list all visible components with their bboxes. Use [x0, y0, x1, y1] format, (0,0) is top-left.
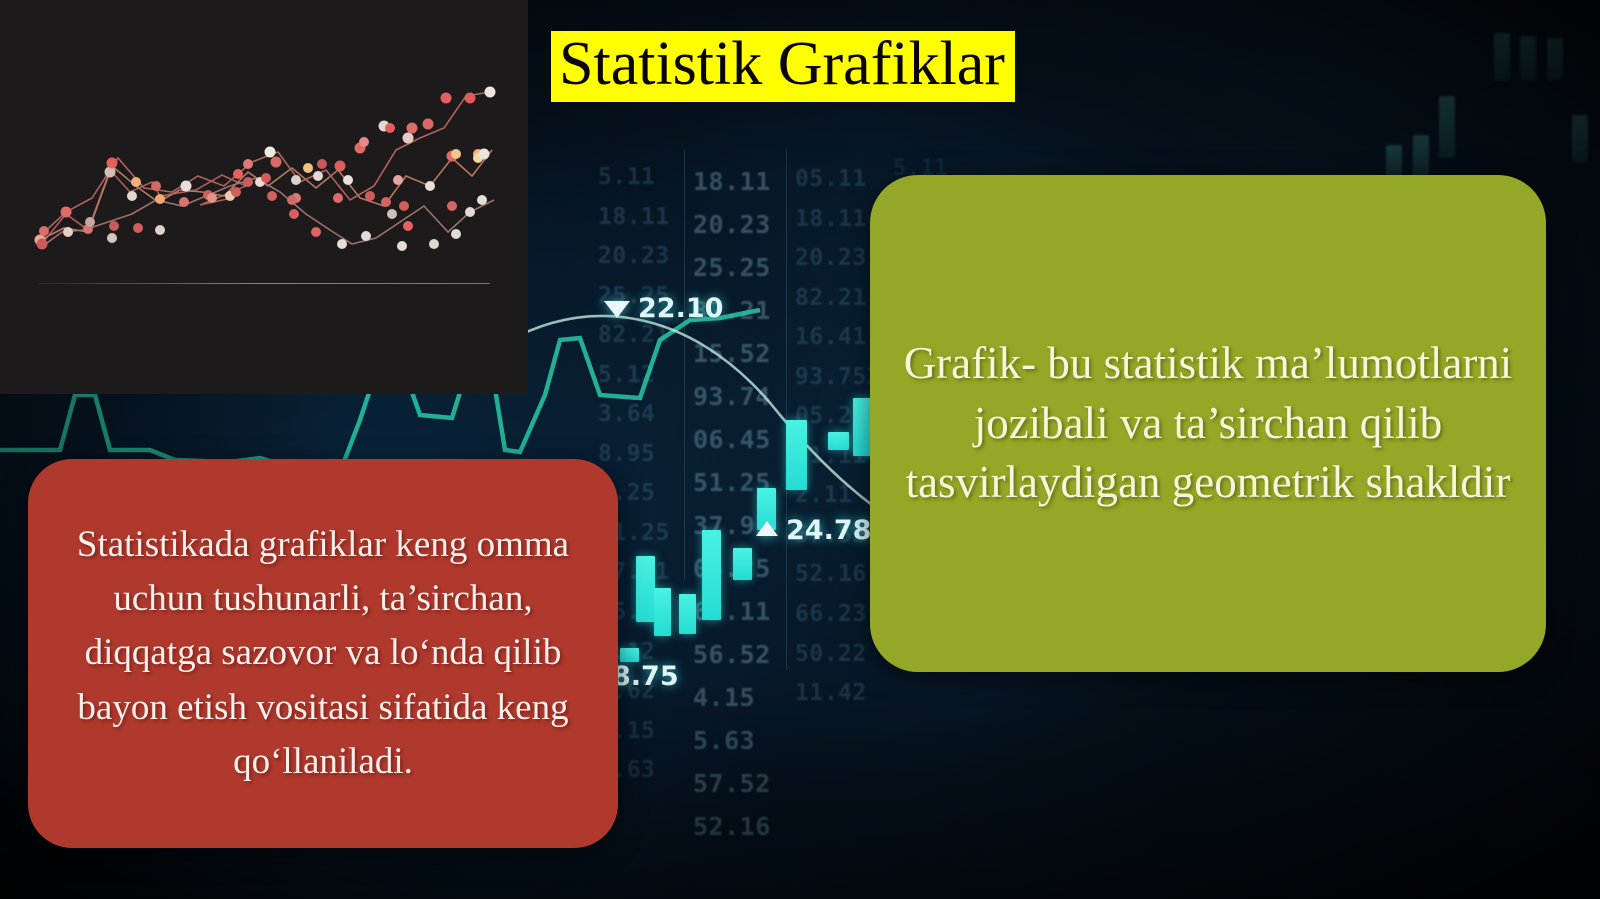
- page-title-text: Statistik Grafiklar: [559, 32, 1005, 97]
- olive-callout-text: Grafik- bu statistik ma’lumotlarni jozib…: [870, 334, 1546, 512]
- slide-canvas: 5.11 18.11 20.23 25.25 82.21 5.12 3.64 8…: [0, 0, 1600, 899]
- red-callout: Statistikada grafiklar keng omma uchun t…: [28, 459, 618, 848]
- page-title: Statistik Grafiklar: [551, 31, 1015, 102]
- inset-line-chart: [0, 0, 528, 394]
- olive-callout: Grafik- bu statistik ma’lumotlarni jozib…: [870, 175, 1546, 672]
- inset-line-chart-panel: [0, 0, 528, 394]
- inset-baseline: [38, 283, 490, 284]
- red-callout-text: Statistikada grafiklar keng omma uchun t…: [28, 518, 618, 788]
